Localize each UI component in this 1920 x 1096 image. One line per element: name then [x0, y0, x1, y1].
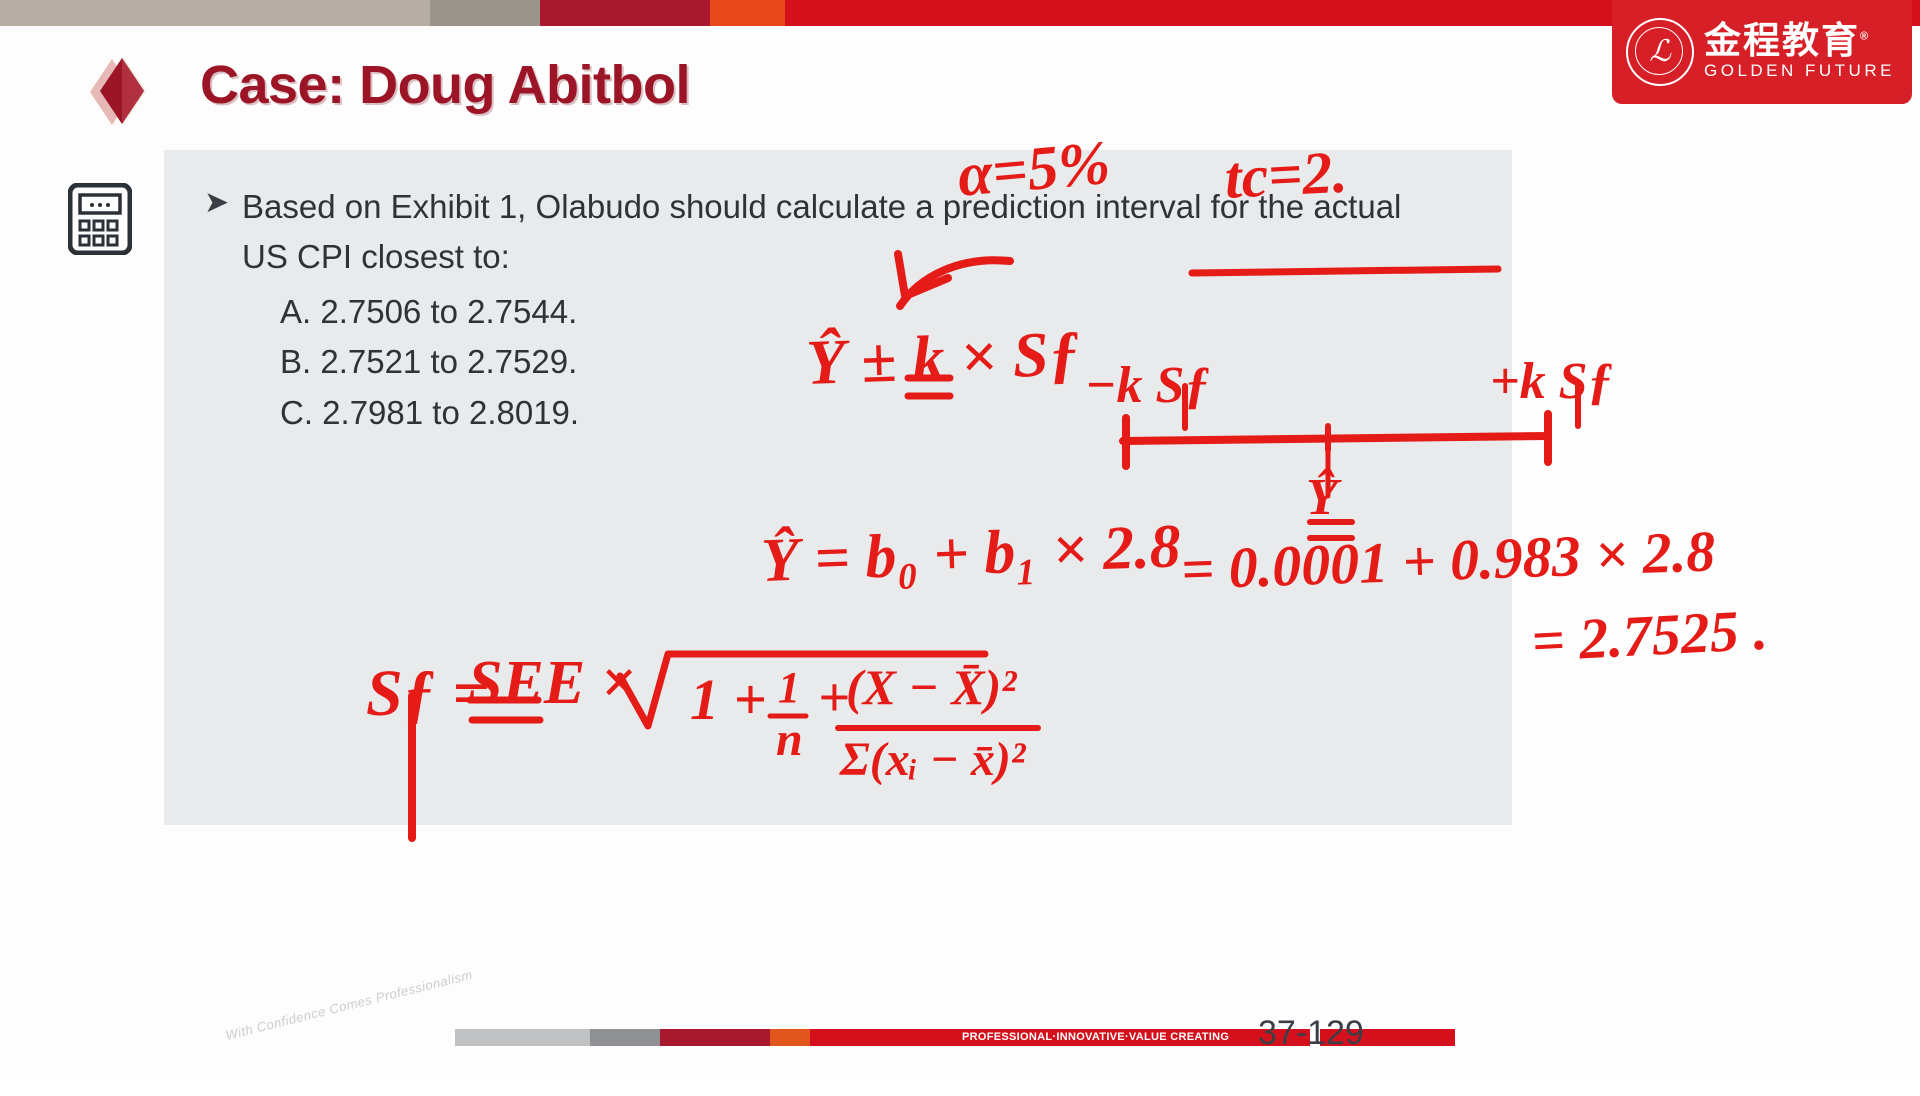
top-strip-segment-1	[430, 0, 540, 26]
page-number: 37-129	[1258, 1014, 1364, 1053]
arrow-bullet-icon: ➤	[204, 182, 242, 223]
registered-mark: ®	[1860, 31, 1870, 43]
seal-icon: ℒ	[1626, 18, 1694, 86]
footer-bar-segment-0	[455, 1029, 590, 1046]
footer-tagline: PROFESSIONAL·INNOVATIVE·VALUE CREATING	[962, 1030, 1229, 1045]
seal-monogram: ℒ	[1649, 37, 1671, 67]
annotation-regression-result: = 2.7525 .	[1530, 596, 1769, 675]
brand-logo: ℒ 金程教育® GOLDEN FUTURE	[1612, 0, 1912, 104]
question-line-1: Based on Exhibit 1, Olabudo should calcu…	[242, 182, 1401, 232]
slide-surface: Case: Doug Abitbol ℒ 金程教育® GOLDEN FUTURE	[0, 26, 1920, 1080]
top-strip-segment-0	[0, 0, 430, 26]
footer-bar-segment-2	[660, 1029, 770, 1046]
option-b[interactable]: B. 2.7521 to 2.7529.	[280, 337, 1494, 387]
calculator-icon	[68, 183, 132, 255]
question-block: ➤ Based on Exhibit 1, Olabudo should cal…	[204, 182, 1494, 438]
top-strip-segment-3	[710, 0, 785, 26]
question-line-2: US CPI closest to:	[242, 232, 1401, 282]
brand-name-cn: 金程教育®	[1704, 22, 1895, 61]
diamond-bullet-icon	[78, 52, 166, 130]
question-row: ➤ Based on Exhibit 1, Olabudo should cal…	[204, 182, 1494, 283]
option-c[interactable]: C. 2.7981 to 2.8019.	[280, 388, 1494, 438]
footer-bar-segment-1	[590, 1029, 660, 1046]
option-a[interactable]: A. 2.7506 to 2.7544.	[280, 287, 1494, 337]
question-panel: ➤ Based on Exhibit 1, Olabudo should cal…	[164, 150, 1512, 825]
slide-header: Case: Doug Abitbol ℒ 金程教育® GOLDEN FUTURE	[0, 26, 1920, 146]
footer-watermark: With Confidence Comes Professionalism	[224, 956, 532, 1096]
brand-name-en: GOLDEN FUTURE	[1704, 61, 1895, 81]
footer-bar-segment-3	[770, 1029, 810, 1046]
option-list: A. 2.7506 to 2.7544. B. 2.7521 to 2.7529…	[280, 287, 1494, 438]
page-title: Case: Doug Abitbol	[200, 54, 690, 116]
top-strip-segment-2	[540, 0, 710, 26]
